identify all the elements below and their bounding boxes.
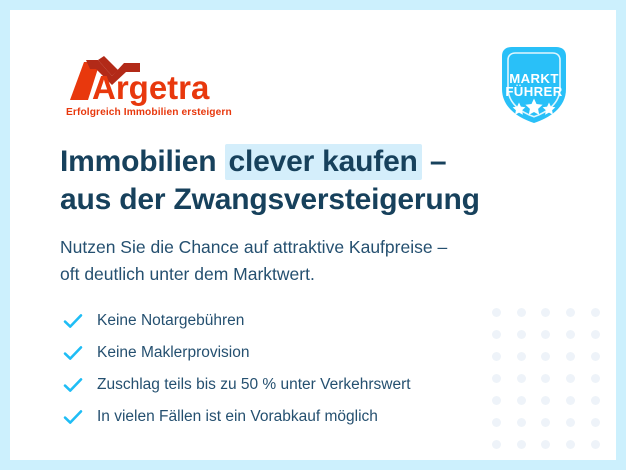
dot bbox=[517, 418, 526, 427]
benefit-item: Keine Maklerprovision bbox=[62, 338, 411, 368]
benefit-item: Keine Notargebühren bbox=[62, 306, 411, 336]
dot bbox=[541, 396, 550, 405]
dot bbox=[517, 330, 526, 339]
dot bbox=[541, 352, 550, 361]
dot bbox=[566, 396, 575, 405]
headline-line-1: Immobilien clever kaufen – bbox=[60, 143, 480, 181]
dot bbox=[492, 352, 501, 361]
dot bbox=[591, 308, 600, 317]
benefit-label: Zuschlag teils bis zu 50 % unter Verkehr… bbox=[97, 376, 411, 394]
dot bbox=[517, 440, 526, 449]
check-icon bbox=[62, 310, 84, 332]
dot bbox=[541, 374, 550, 383]
svg-text:FÜHRER: FÜHRER bbox=[505, 84, 562, 99]
dot bbox=[566, 374, 575, 383]
dot bbox=[517, 308, 526, 317]
headline-pre: Immobilien bbox=[60, 145, 225, 178]
dot bbox=[566, 330, 575, 339]
subheadline-line-1: Nutzen Sie die Chance auf attraktive Kau… bbox=[60, 234, 447, 261]
headline-line-2: aus der Zwangsversteigerung bbox=[60, 181, 480, 219]
dot bbox=[541, 418, 550, 427]
dot bbox=[517, 396, 526, 405]
dot bbox=[566, 308, 575, 317]
dot bbox=[492, 396, 501, 405]
dot bbox=[591, 418, 600, 427]
dot bbox=[566, 418, 575, 427]
dot bbox=[492, 308, 501, 317]
dot bbox=[566, 352, 575, 361]
benefits-list: Keine NotargebührenKeine Maklerprovision… bbox=[62, 306, 411, 434]
svg-text:Erfolgreich Immobilien ersteig: Erfolgreich Immobilien ersteigern bbox=[66, 107, 232, 118]
dot bbox=[591, 396, 600, 405]
headline-post: – bbox=[422, 145, 447, 178]
benefit-item: Zuschlag teils bis zu 50 % unter Verkehr… bbox=[62, 370, 411, 400]
dot bbox=[517, 374, 526, 383]
dot bbox=[492, 418, 501, 427]
check-icon bbox=[62, 342, 84, 364]
dot bbox=[541, 308, 550, 317]
dot bbox=[541, 440, 550, 449]
dot bbox=[591, 352, 600, 361]
check-icon bbox=[62, 374, 84, 396]
banner-card: Argetra Erfolgreich Immobilien ersteiger… bbox=[10, 10, 616, 460]
headline-highlight: clever kaufen bbox=[225, 144, 422, 180]
dot bbox=[591, 440, 600, 449]
promo-banner: Argetra Erfolgreich Immobilien ersteiger… bbox=[0, 0, 626, 470]
subheadline-line-2: oft deutlich unter dem Marktwert. bbox=[60, 261, 447, 288]
check-icon bbox=[62, 406, 84, 428]
benefit-label: In vielen Fällen ist ein Vorabkauf mögli… bbox=[97, 408, 378, 426]
svg-text:Argetra: Argetra bbox=[92, 69, 210, 106]
benefit-label: Keine Maklerprovision bbox=[97, 344, 250, 362]
benefit-item: In vielen Fällen ist ein Vorabkauf mögli… bbox=[62, 402, 411, 432]
dot bbox=[492, 374, 501, 383]
dot bbox=[591, 374, 600, 383]
dot bbox=[541, 330, 550, 339]
dot bbox=[566, 440, 575, 449]
marktfuehrer-badge: MARKT FÜHRER MARKT FÜHRER bbox=[492, 42, 576, 128]
benefit-label: Keine Notargebühren bbox=[97, 312, 244, 330]
dot bbox=[492, 330, 501, 339]
headline: Immobilien clever kaufen – aus der Zwang… bbox=[60, 143, 480, 219]
dot bbox=[517, 352, 526, 361]
subheadline: Nutzen Sie die Chance auf attraktive Kau… bbox=[60, 234, 447, 287]
argetra-logo[interactable]: Argetra Erfolgreich Immobilien ersteiger… bbox=[60, 52, 250, 120]
dot bbox=[591, 330, 600, 339]
dot bbox=[492, 440, 501, 449]
dot-grid-decoration bbox=[484, 302, 608, 460]
